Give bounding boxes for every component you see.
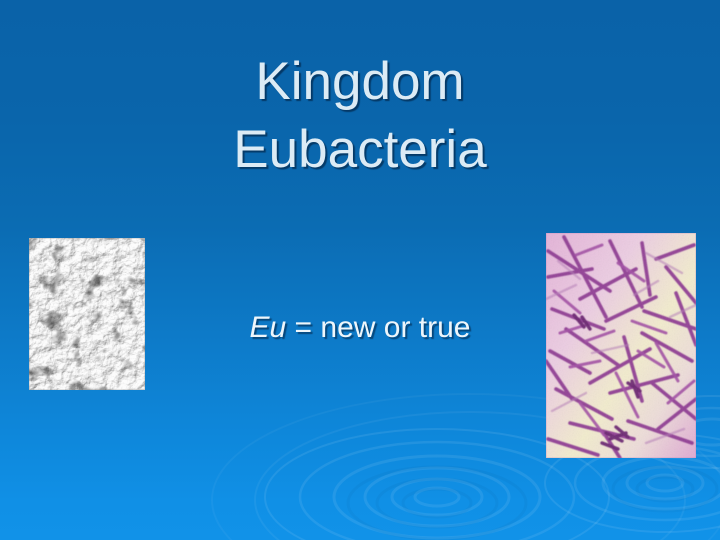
term-definition: = new or true [295, 311, 471, 344]
definition-line: Eu = new or true [250, 311, 471, 344]
slide-title: Kingdom Eubacteria [0, 48, 720, 184]
cocci-micrograph-image [29, 238, 145, 390]
title-line-2: Eubacteria [0, 116, 720, 184]
slide-canvas: Kingdom Eubacteria Eu = new or true [0, 0, 720, 540]
title-line-1: Kingdom [0, 48, 720, 116]
term-eu: Eu [250, 311, 287, 344]
bacilli-micrograph-image [546, 233, 696, 458]
